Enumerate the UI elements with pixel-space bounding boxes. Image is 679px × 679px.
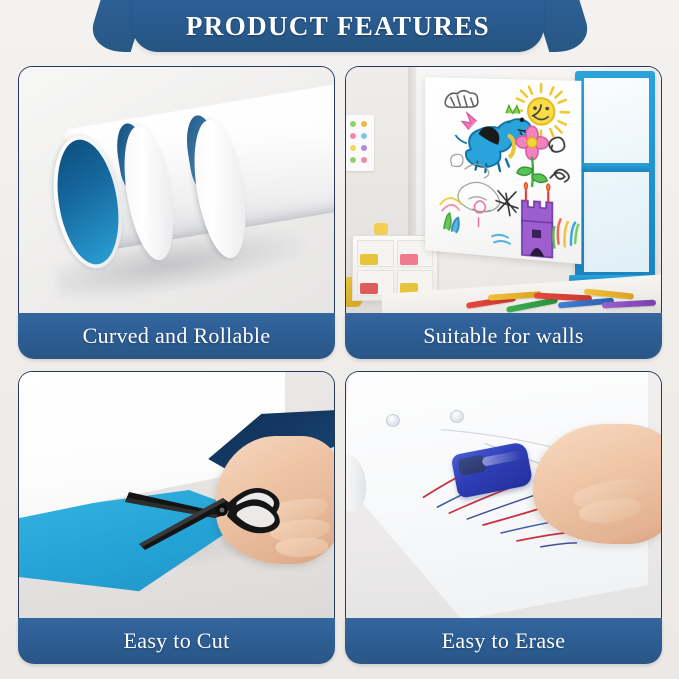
roll-scene	[19, 67, 334, 313]
window-frame	[575, 71, 655, 279]
feature-caption-easy-to-cut: Easy to Cut	[18, 618, 335, 664]
feature-image-suitable-for-walls	[345, 66, 662, 313]
toy-block	[374, 223, 388, 235]
feature-caption-suitable-for-walls: Suitable for walls	[345, 313, 662, 359]
push-pin-cap	[386, 414, 400, 427]
childrens-drawings	[425, 77, 581, 264]
window-glass	[584, 78, 649, 272]
marker-pile	[466, 285, 656, 311]
feature-image-easy-to-erase	[345, 371, 662, 618]
window-mullion	[581, 163, 649, 172]
scissors	[123, 458, 283, 554]
feature-caption-curved-and-rollable: Curved and Rollable	[18, 313, 335, 359]
feature-panel-curved-and-rollable: Curved and Rollable	[18, 66, 335, 359]
feature-panel-easy-to-cut: Easy to Cut	[18, 371, 335, 664]
page-title: PRODUCT FEATURES	[132, 0, 544, 52]
feature-image-curved-and-rollable	[18, 66, 335, 313]
feature-caption-easy-to-erase: Easy to Erase	[345, 618, 662, 664]
push-pin	[450, 410, 464, 423]
whiteboard-sheet	[425, 77, 581, 264]
feature-image-easy-to-cut	[18, 371, 335, 618]
feature-panel-suitable-for-walls: Suitable for walls	[345, 66, 662, 359]
feature-panel-easy-to-erase: Easy to Erase	[345, 371, 662, 664]
shelf-cell	[357, 270, 394, 297]
header-banner: PRODUCT FEATURES	[0, 0, 679, 54]
features-grid: Curved and Rollable	[18, 66, 662, 664]
eraser-pad	[457, 454, 486, 476]
erasing-scene	[346, 372, 661, 618]
push-pin-cap	[450, 410, 464, 423]
cutting-scene	[19, 372, 334, 618]
mini-poster	[346, 115, 374, 171]
product-features-infographic: PRODUCT FEATURES Curved and Rollable	[0, 0, 679, 679]
playroom-scene	[346, 67, 661, 313]
push-pin	[386, 414, 400, 427]
eraser-highlight	[481, 450, 522, 466]
castle-drawing	[522, 182, 552, 257]
shelf-cell	[357, 240, 394, 267]
